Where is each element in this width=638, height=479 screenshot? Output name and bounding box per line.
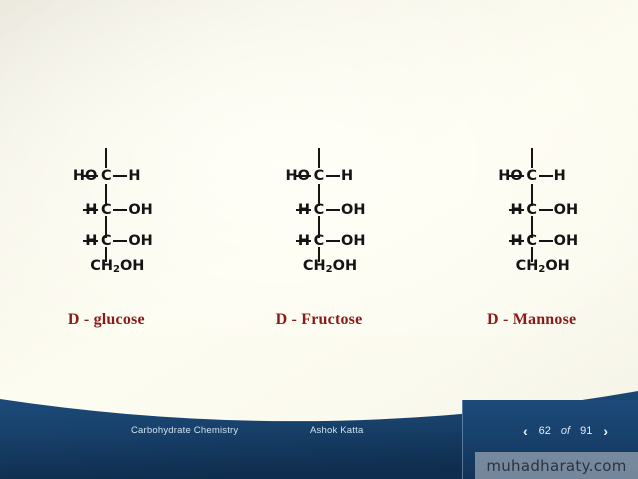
bond-horizontal-right-1 [113, 175, 127, 177]
molecule-diagram-1: HO C H H C OH H C [43, 148, 169, 280]
terminal-group-tail: OH [120, 258, 144, 274]
bond-horizontal-right-2 [539, 209, 553, 211]
bond-vertical-top [531, 148, 533, 168]
bond-horizontal-left-1 [509, 175, 524, 177]
carbon-atom-1: C [98, 168, 114, 184]
carbon-atom-3: C [311, 233, 327, 249]
substituent-right-1: H [341, 168, 353, 184]
molecule-label-fructose: D - Fructose [213, 311, 426, 329]
bond-horizontal-right-3 [113, 240, 127, 242]
bond-vertical-top [318, 148, 320, 168]
carbon-atom-3: C [524, 233, 540, 249]
bond-horizontal-left-3 [509, 240, 524, 242]
substituent-right-2: OH [341, 202, 365, 218]
terminal-group-subscript: 2 [326, 264, 333, 275]
bond-horizontal-left-1 [296, 175, 311, 177]
carbon-row-2: H C OH [469, 200, 595, 220]
structure-column-3: HO C H H C OH H C [425, 148, 638, 280]
carbon-atom-2: C [98, 202, 114, 218]
carbon-row-1: HO C H [43, 166, 169, 186]
substituent-right-2: OH [554, 202, 578, 218]
terminal-group-head: CH [516, 258, 539, 274]
bond-horizontal-left-2 [509, 209, 524, 211]
page-navigation: ‹ 62 of 91 › [521, 424, 610, 438]
carbon-atom-3: C [98, 233, 114, 249]
footer-meta: Carbohydrate Chemistry Ashok Katta [0, 425, 470, 441]
terminal-group-head: CH [303, 258, 326, 274]
structure-column-2: HO C H H C OH H C [213, 148, 426, 280]
bond-horizontal-left-2 [296, 209, 311, 211]
footer-topic: Carbohydrate Chemistry [131, 425, 238, 436]
bond-horizontal-right-3 [539, 240, 553, 242]
footer-author: Ashok Katta [310, 425, 363, 436]
total-page-number: 91 [580, 425, 592, 437]
substituent-right-1: H [128, 168, 140, 184]
carbon-atom-2: C [311, 202, 327, 218]
molecule-diagram-2: HO C H H C OH H C [256, 148, 382, 280]
substituent-right-1: H [554, 168, 566, 184]
bond-horizontal-right-1 [326, 175, 340, 177]
terminal-group-3: CH2OH [469, 258, 595, 275]
carbon-row-2: H C OH [256, 200, 382, 220]
bond-horizontal-right-2 [326, 209, 340, 211]
bond-horizontal-right-2 [113, 209, 127, 211]
substituent-right-3: OH [341, 233, 365, 249]
bond-horizontal-right-3 [326, 240, 340, 242]
substituent-right-3: OH [128, 233, 152, 249]
carbon-row-3: H C OH [43, 231, 169, 251]
terminal-group-subscript: 2 [113, 264, 120, 275]
carbon-row-1: HO C H [469, 166, 595, 186]
carbon-atom-1: C [524, 168, 540, 184]
terminal-group-head: CH [90, 258, 113, 274]
prev-page-icon[interactable]: ‹ [521, 424, 530, 438]
carbon-atom-2: C [524, 202, 540, 218]
carbon-row-3: H C OH [469, 231, 595, 251]
carbon-atom-1: C [311, 168, 327, 184]
current-page-number: 62 [539, 425, 551, 437]
substituent-right-2: OH [128, 202, 152, 218]
molecule-diagram-3: HO C H H C OH H C [469, 148, 595, 280]
structures-row: HO C H H C OH H C [0, 148, 638, 280]
terminal-group-2: CH2OH [256, 258, 382, 275]
bond-horizontal-left-1 [83, 175, 98, 177]
molecule-label-glucose: D - glucose [0, 311, 213, 329]
bond-vertical-top [105, 148, 107, 168]
next-page-icon[interactable]: › [601, 424, 610, 438]
bond-horizontal-left-3 [83, 240, 98, 242]
carbon-row-3: H C OH [256, 231, 382, 251]
terminal-group-tail: OH [333, 258, 357, 274]
bond-horizontal-right-1 [539, 175, 553, 177]
slide-canvas: HO C H H C OH H C [0, 0, 638, 479]
bond-horizontal-left-2 [83, 209, 98, 211]
page-of-label: of [560, 425, 571, 437]
terminal-group-1: CH2OH [43, 258, 169, 275]
captions-row: D - glucose D - Fructose D - Mannose [0, 311, 638, 329]
carbon-row-1: HO C H [256, 166, 382, 186]
substituent-right-3: OH [554, 233, 578, 249]
bond-horizontal-left-3 [296, 240, 311, 242]
structure-column-1: HO C H H C OH H C [0, 148, 213, 280]
terminal-group-tail: OH [545, 258, 569, 274]
molecule-label-mannose: D - Mannose [425, 311, 638, 329]
watermark: muhadharaty.com [475, 452, 638, 479]
carbon-row-2: H C OH [43, 200, 169, 220]
